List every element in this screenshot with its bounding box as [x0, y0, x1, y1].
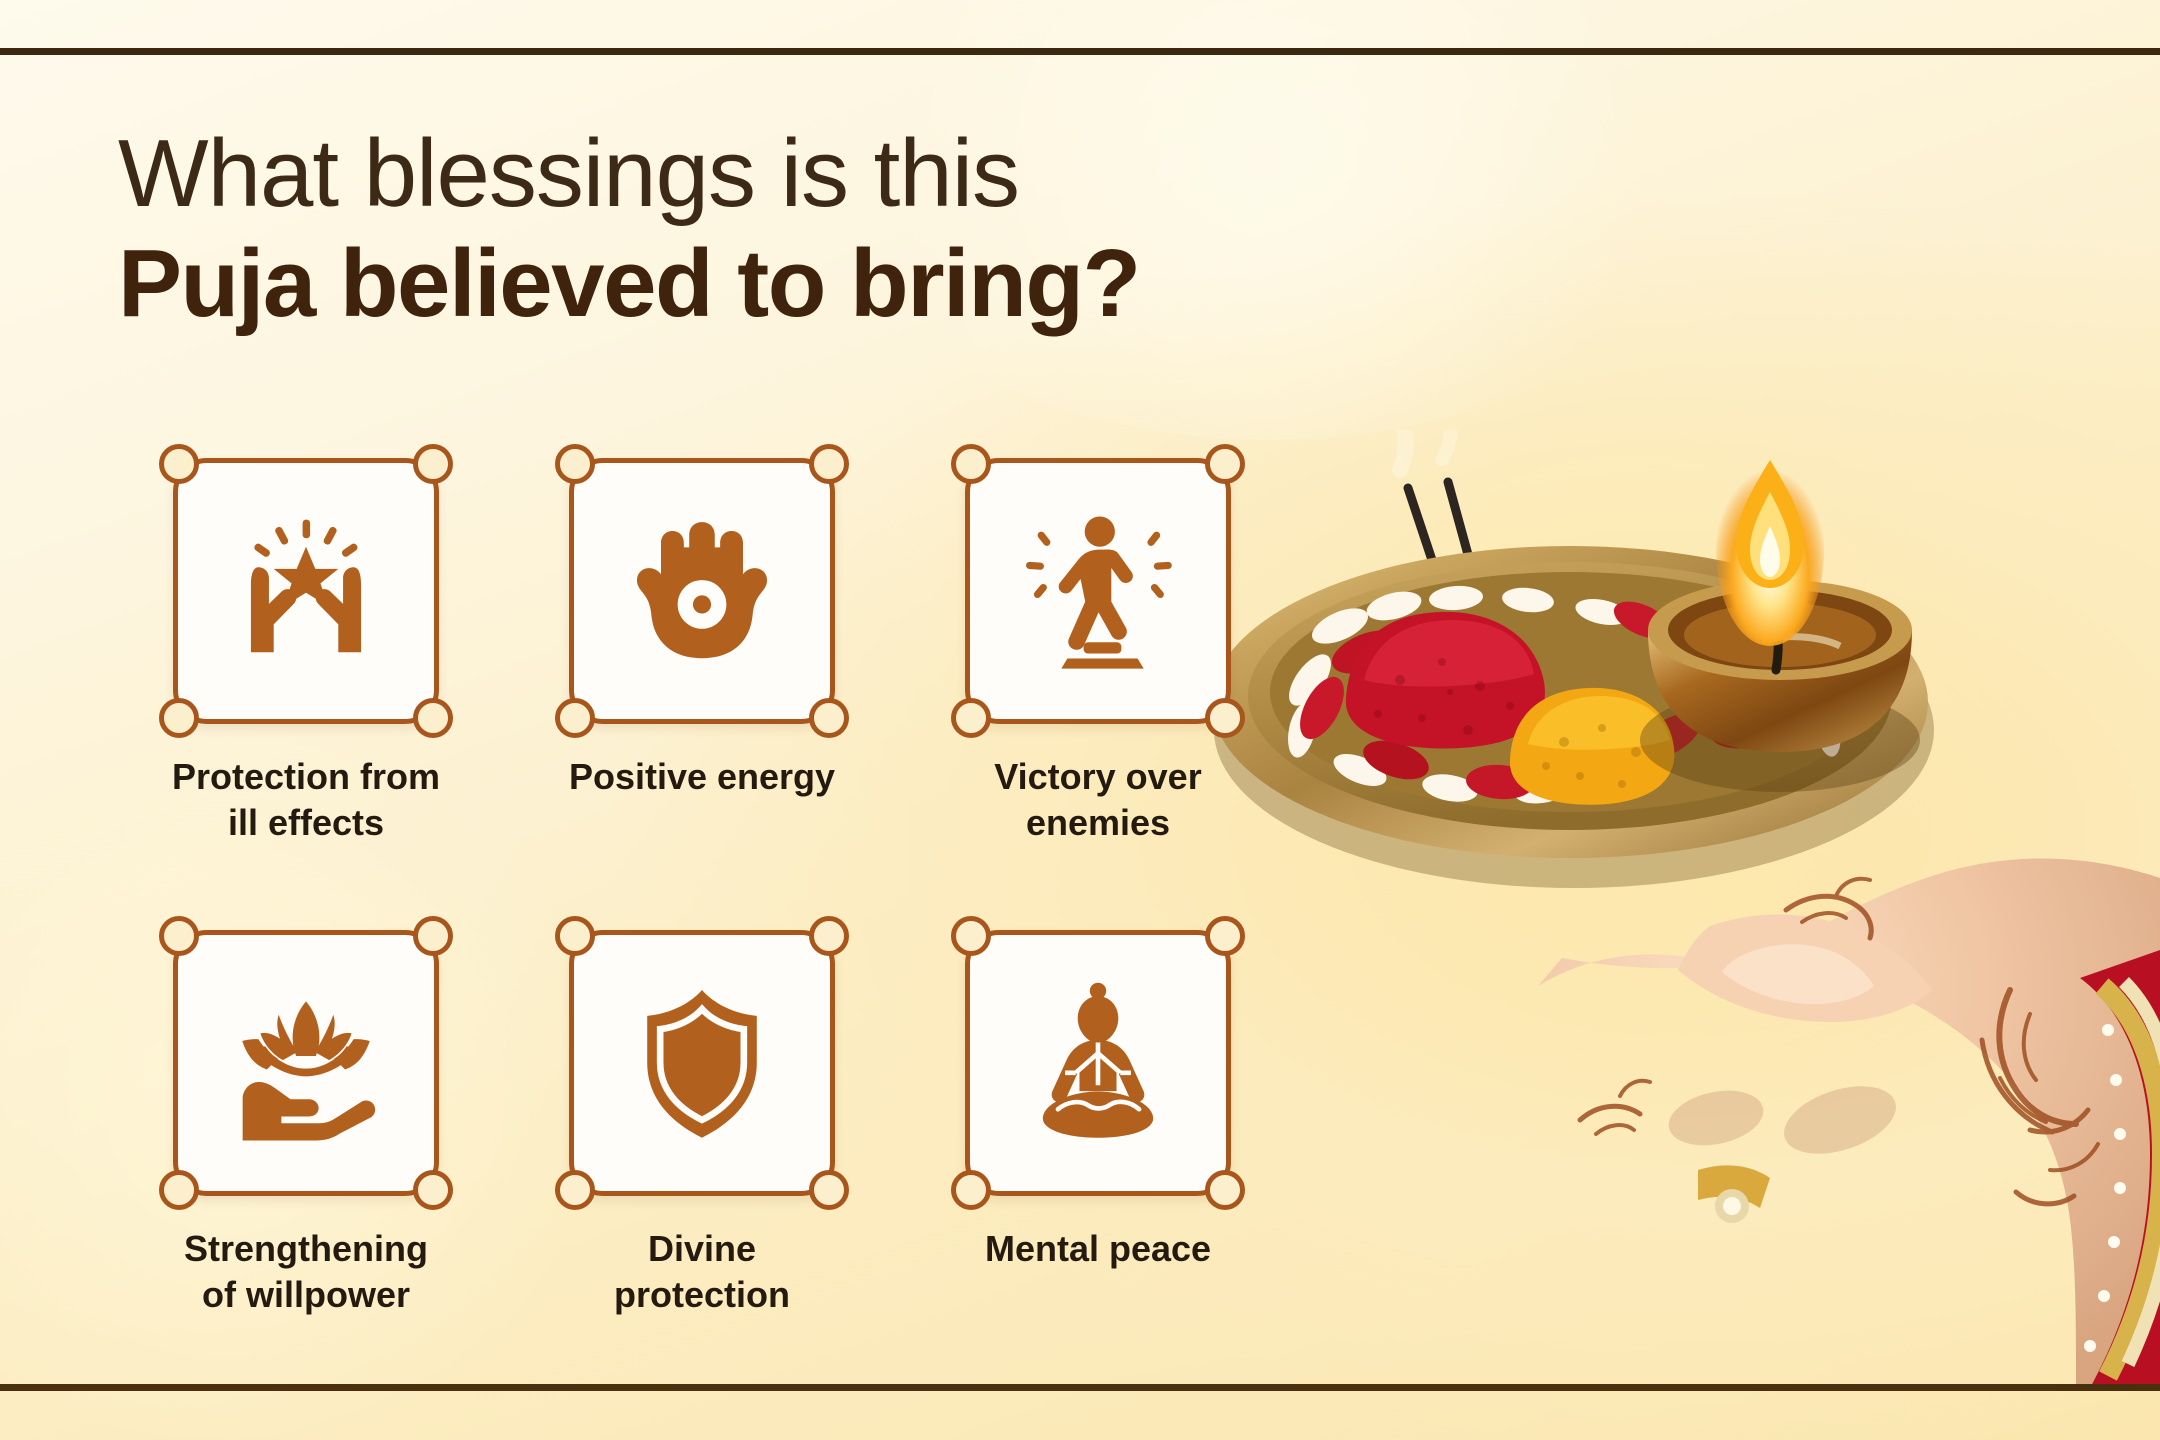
- corner-notch: [159, 1170, 199, 1210]
- bottom-divider-rule: [0, 1384, 2160, 1391]
- benefit-label: Victory over enemies: [994, 754, 1201, 846]
- corner-notch: [809, 698, 849, 738]
- corner-notch: [1205, 916, 1245, 956]
- benefit-label: Positive energy: [569, 754, 835, 800]
- corner-notch: [1205, 444, 1245, 484]
- meditating-figure-icon: [1009, 974, 1187, 1152]
- corner-notch: [809, 444, 849, 484]
- benefit-label: Mental peace: [985, 1226, 1211, 1272]
- page-title: What blessings is this Puja believed to …: [118, 124, 1140, 336]
- benefit-item: Victory over enemies: [900, 458, 1296, 930]
- corner-notch: [413, 916, 453, 956]
- lotus-in-open-hand-icon: [218, 975, 394, 1151]
- corner-notch: [413, 698, 453, 738]
- corner-notch: [1205, 1170, 1245, 1210]
- corner-notch: [951, 698, 991, 738]
- corner-notch: [951, 444, 991, 484]
- corner-notch: [555, 444, 595, 484]
- corner-notch: [951, 1170, 991, 1210]
- infographic-canvas: What blessings is this Puja believed to …: [0, 0, 2160, 1440]
- icon-frame: [965, 458, 1231, 724]
- benefit-label: Protection from ill effects: [172, 754, 440, 846]
- corner-notch: [809, 916, 849, 956]
- corner-notch: [555, 1170, 595, 1210]
- icon-frame: [569, 458, 835, 724]
- top-divider-rule: [0, 48, 2160, 55]
- benefits-grid: Protection from ill effects Positive ene…: [108, 458, 1296, 1402]
- hamsa-hand-icon: [618, 507, 786, 675]
- incense-smoke: [1399, 430, 1518, 470]
- icon-frame: [173, 458, 439, 724]
- corner-notch: [809, 1170, 849, 1210]
- benefit-label: Divine protection: [614, 1226, 790, 1318]
- hand-holding-puja-thali-photo: [1150, 430, 2160, 1388]
- benefit-item: Positive energy: [504, 458, 900, 930]
- benefit-item: Mental peace: [900, 930, 1296, 1402]
- brass-diya-with-flame: [1640, 454, 1920, 792]
- benefit-item: Protection from ill effects: [108, 458, 504, 930]
- corner-notch: [1205, 698, 1245, 738]
- icon-frame: [173, 930, 439, 1196]
- corner-notch: [555, 698, 595, 738]
- corner-notch: [555, 916, 595, 956]
- benefit-item: Divine protection: [504, 930, 900, 1402]
- mehndi-decorated-hand: [1538, 859, 2160, 1388]
- icon-frame: [569, 930, 835, 1196]
- corner-notch: [413, 444, 453, 484]
- corner-notch: [159, 444, 199, 484]
- benefit-label: Strengthening of willpower: [184, 1226, 428, 1318]
- corner-notch: [159, 916, 199, 956]
- victorious-figure-on-podium-icon: [1008, 501, 1188, 681]
- hands-holding-star-icon: [221, 506, 391, 676]
- corner-notch: [413, 1170, 453, 1210]
- icon-frame: [965, 930, 1231, 1196]
- benefit-item: Strengthening of willpower: [108, 930, 504, 1402]
- corner-notch: [951, 916, 991, 956]
- corner-notch: [159, 698, 199, 738]
- heading-line-2: Puja believed to bring?: [118, 232, 1140, 336]
- shield-icon: [619, 980, 785, 1146]
- heading-line-1: What blessings is this: [118, 124, 1140, 224]
- gold-ring: [1698, 1165, 1770, 1223]
